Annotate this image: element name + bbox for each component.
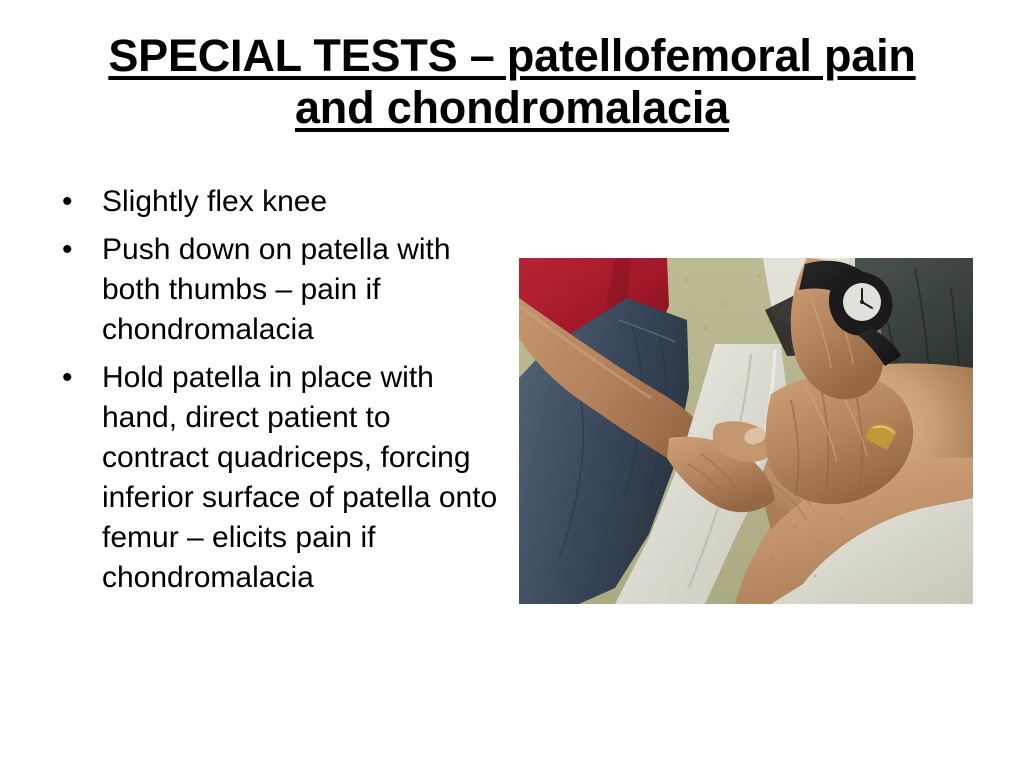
photo-illustration bbox=[519, 258, 973, 604]
list-item-text: Hold patella in place with hand, direct … bbox=[102, 358, 498, 598]
bullet-marker-icon: • bbox=[58, 230, 102, 270]
list-item-text: Slightly flex knee bbox=[102, 182, 498, 222]
title-line-1: SPECIAL TESTS – patellofemoral pain bbox=[62, 30, 962, 82]
bullet-marker-icon: • bbox=[58, 358, 102, 398]
list-item: • Slightly flex knee bbox=[58, 182, 498, 222]
title-line-2-text: and chondromalacia bbox=[295, 82, 729, 133]
slide-canvas: SPECIAL TESTS – patellofemoral pain and … bbox=[0, 0, 1024, 768]
photo-warm-tint bbox=[519, 258, 973, 604]
knee-examination-photo bbox=[519, 258, 973, 604]
list-item-text: Push down on patella with both thumbs – … bbox=[102, 230, 498, 350]
title-line-2: and chondromalacia bbox=[62, 82, 962, 134]
list-item: • Hold patella in place with hand, direc… bbox=[58, 358, 498, 598]
title-line-1-text: SPECIAL TESTS – patellofemoral pain bbox=[108, 30, 915, 81]
page-title: SPECIAL TESTS – patellofemoral pain and … bbox=[62, 30, 962, 134]
bullet-marker-icon: • bbox=[58, 182, 102, 222]
bullet-list: • Slightly flex knee • Push down on pate… bbox=[58, 182, 498, 606]
list-item: • Push down on patella with both thumbs … bbox=[58, 230, 498, 350]
